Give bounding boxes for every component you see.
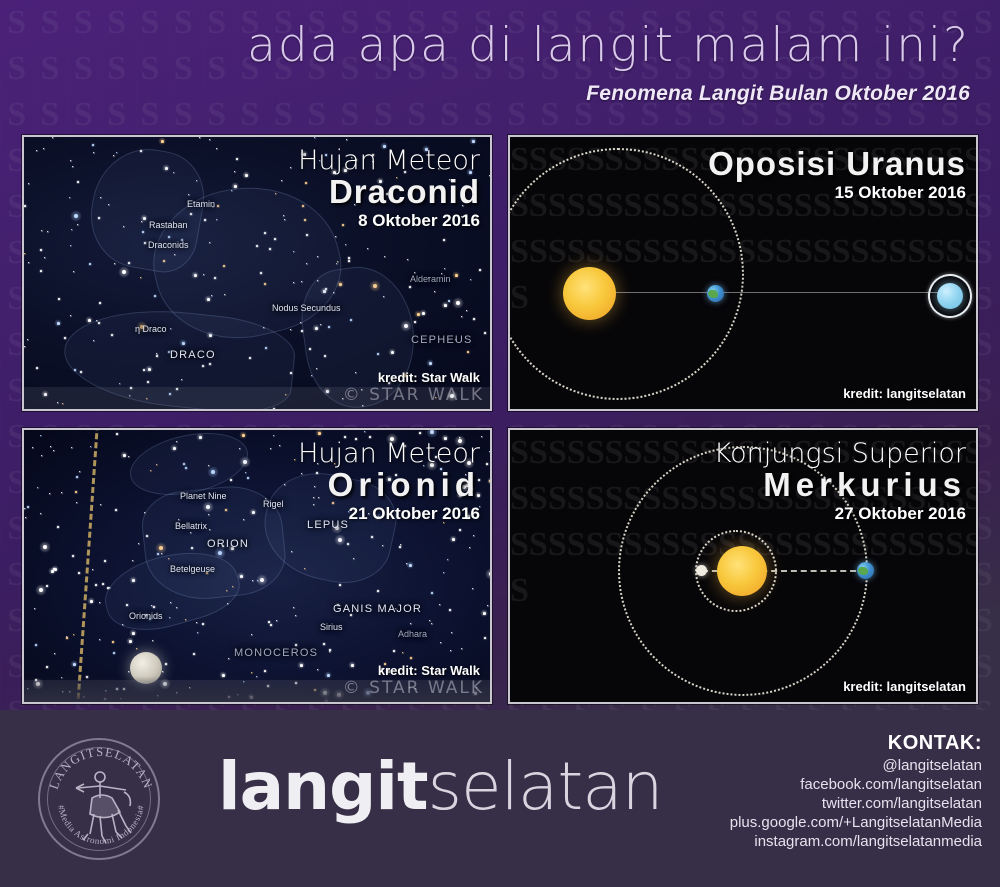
- star: [461, 648, 462, 649]
- star: [54, 568, 57, 571]
- draconid-starwalk-watermark: © STAR WALK: [343, 385, 484, 405]
- star: [93, 152, 94, 153]
- star: [154, 295, 156, 297]
- draconid-credit: kredit: Star Walk: [378, 370, 480, 385]
- star: [72, 166, 73, 167]
- sky-label: ORION: [207, 538, 249, 550]
- star: [469, 547, 470, 548]
- star: [35, 644, 37, 646]
- draconid-name: Draconid: [298, 175, 480, 210]
- uranus-date: 15 Oktober 2016: [708, 183, 966, 203]
- star: [27, 339, 28, 340]
- star: [473, 318, 475, 320]
- star: [41, 230, 42, 231]
- uranus-credit: kredit: langitselatan: [843, 386, 966, 401]
- orionid-starwalk-watermark: © STAR WALK: [343, 678, 484, 698]
- star: [489, 175, 490, 176]
- star: [290, 167, 291, 168]
- star: [448, 300, 450, 302]
- sun-body: [563, 267, 616, 320]
- star: [90, 600, 93, 603]
- star: [90, 446, 91, 447]
- star: [466, 310, 467, 311]
- earth-body-merkurius: [857, 562, 874, 579]
- star: [484, 637, 486, 639]
- star: [76, 502, 77, 503]
- star: [44, 257, 45, 258]
- star: [393, 650, 395, 652]
- sky-label: CEPHEUS: [411, 334, 473, 346]
- star: [92, 569, 93, 570]
- sky-label: MONOCEROS: [234, 647, 318, 659]
- star: [456, 301, 460, 305]
- star: [196, 622, 197, 623]
- star: [161, 140, 164, 143]
- star: [228, 658, 229, 659]
- star: [49, 493, 50, 494]
- star: [459, 529, 461, 531]
- contact-facebook[interactable]: facebook.com/langitselatan: [730, 776, 982, 793]
- star: [75, 491, 77, 493]
- star: [152, 640, 153, 641]
- star: [77, 224, 78, 225]
- seal-artwork: LANGITSELATAN #Media Astronomi Indonesia…: [40, 740, 162, 862]
- sky-label: Adhara: [398, 629, 427, 639]
- panel-uranus[interactable]: SSSSSSSSSSSSSSSSSSSSSSSSSSSSSSSSSSSSSSSS…: [508, 135, 978, 411]
- sky-label: Orionids: [129, 611, 163, 621]
- star: [37, 487, 38, 488]
- star: [483, 612, 486, 615]
- star: [430, 430, 434, 434]
- star: [472, 588, 473, 589]
- uranus-name: Uranus: [846, 145, 966, 182]
- star: [444, 268, 445, 269]
- star: [73, 271, 74, 272]
- star: [113, 652, 115, 654]
- star: [72, 555, 74, 557]
- star: [64, 337, 66, 339]
- star: [162, 671, 163, 672]
- star: [114, 263, 115, 264]
- star: [52, 137, 53, 138]
- sky-label: Sirius: [320, 622, 343, 632]
- orionid-name: Orionid: [298, 468, 480, 503]
- star: [36, 367, 38, 369]
- langitselatan-seal-logo: LANGITSELATAN #Media Astronomi Indonesia…: [38, 738, 160, 860]
- sky-label: Betelgeuse: [170, 564, 215, 574]
- star: [27, 506, 29, 508]
- star: [409, 564, 412, 567]
- star: [431, 592, 433, 594]
- star: [486, 463, 488, 465]
- star: [417, 313, 420, 316]
- sky-label: Bellatrix: [175, 521, 207, 531]
- star: [351, 664, 354, 667]
- star: [99, 602, 100, 603]
- star: [364, 431, 365, 432]
- star: [279, 445, 280, 446]
- star: [440, 642, 441, 643]
- star: [470, 279, 471, 280]
- merkurius-name: Merkurius: [714, 468, 966, 503]
- star: [32, 447, 33, 448]
- star: [54, 653, 55, 654]
- star: [414, 321, 416, 323]
- star: [95, 584, 97, 586]
- sky-label: Rastaban: [149, 220, 188, 230]
- star: [41, 455, 42, 456]
- star: [295, 644, 297, 646]
- star: [99, 302, 101, 304]
- star: [273, 435, 274, 436]
- page-subtitle: Fenomena Langit Bulan Oktober 2016: [586, 82, 970, 106]
- star: [74, 214, 78, 218]
- star: [323, 643, 325, 645]
- panel-draconid[interactable]: EtaminRastabanDraconidsNodus Secundusη D…: [22, 135, 492, 411]
- contact-instagram[interactable]: instagram.com/langitselatanmedia: [730, 833, 982, 850]
- draconid-date: 8 Oktober 2016: [298, 211, 480, 231]
- star: [76, 476, 78, 478]
- star: [24, 205, 26, 207]
- merkurius-credit: kredit: langitselatan: [843, 679, 966, 694]
- mercury-body: [696, 565, 707, 576]
- star: [281, 180, 282, 181]
- star: [40, 270, 42, 272]
- star: [461, 316, 462, 317]
- star: [89, 263, 91, 265]
- star: [43, 148, 44, 149]
- star: [78, 572, 80, 574]
- star: [132, 632, 135, 635]
- star: [77, 181, 79, 183]
- star: [28, 262, 29, 263]
- star: [46, 666, 48, 668]
- star: [73, 634, 74, 635]
- star: [443, 572, 444, 573]
- star: [489, 451, 490, 452]
- star: [92, 144, 94, 146]
- star: [443, 239, 445, 241]
- star: [197, 632, 198, 633]
- star: [245, 174, 248, 177]
- star: [367, 248, 368, 249]
- star: [216, 148, 217, 149]
- panel-merkurius[interactable]: SSSSSSSSSSSSSSSSSSSSSSSSSSSSSSSSSSSSSSSS…: [508, 428, 978, 704]
- star: [384, 256, 385, 257]
- star: [66, 637, 68, 639]
- star: [484, 332, 486, 334]
- star: [234, 171, 235, 172]
- star: [329, 649, 331, 651]
- star: [251, 672, 252, 673]
- star: [116, 152, 117, 153]
- star: [100, 504, 101, 505]
- star: [230, 479, 232, 481]
- star: [104, 560, 106, 562]
- sky-label: Draconids: [148, 240, 189, 250]
- star: [247, 477, 249, 479]
- star: [268, 621, 270, 623]
- star: [348, 260, 350, 262]
- contact-twitter[interactable]: twitter.com/langitselatan: [730, 795, 982, 812]
- sky-label: Nodus Secundus: [272, 303, 341, 313]
- star: [434, 291, 435, 292]
- wordmark-bold: langit: [218, 748, 428, 825]
- page-title: ada apa di langit malam ini?: [247, 18, 970, 73]
- star: [211, 702, 212, 703]
- opposition-sightline: [582, 292, 952, 293]
- star: [264, 670, 266, 672]
- star: [467, 351, 469, 353]
- star: [73, 663, 76, 666]
- star: [47, 231, 48, 232]
- star: [24, 253, 25, 254]
- sky-label: GANIS MAJOR: [333, 603, 422, 615]
- uranus-title: Oposisi Uranus: [708, 147, 966, 182]
- star: [450, 650, 451, 651]
- orionid-title-block: Hujan Meteor Orionid 21 Oktober 2016: [298, 440, 480, 524]
- star: [270, 624, 272, 626]
- star: [345, 244, 346, 245]
- star: [115, 509, 117, 511]
- star: [431, 623, 432, 624]
- star: [40, 435, 41, 436]
- star: [300, 664, 303, 667]
- orionid-kind: Hujan Meteor: [298, 440, 480, 468]
- sky-label: Alderamin: [410, 274, 451, 284]
- sky-label: Rigel: [263, 499, 284, 509]
- sky-label: η Draco: [135, 324, 167, 334]
- star: [24, 346, 25, 347]
- star: [71, 229, 72, 230]
- uranus-body: [937, 283, 963, 309]
- sun-body-merkurius: [717, 546, 767, 596]
- star: [422, 312, 425, 315]
- star: [69, 197, 70, 198]
- merkurius-date: 27 Oktober 2016: [714, 504, 966, 524]
- star: [34, 608, 35, 609]
- star: [199, 137, 200, 138]
- earth-body: [707, 285, 724, 302]
- star: [409, 286, 411, 288]
- star: [295, 615, 296, 616]
- star: [40, 249, 42, 251]
- star: [490, 153, 491, 154]
- star: [61, 492, 62, 493]
- uranus-title-block: Oposisi Uranus 15 Oktober 2016: [708, 147, 966, 203]
- langitselatan-wordmark: langitselatan: [218, 754, 663, 820]
- contact-handle[interactable]: @langitselatan: [730, 757, 982, 774]
- star: [406, 563, 407, 564]
- star: [112, 641, 114, 643]
- sky-label: Etamin: [187, 199, 215, 209]
- draconid-title-block: Hujan Meteor Draconid 8 Oktober 2016: [298, 147, 480, 231]
- star: [429, 362, 432, 365]
- star: [128, 671, 129, 672]
- contact-block: KONTAK: @langitselatan facebook.com/lang…: [730, 732, 982, 850]
- star: [487, 605, 488, 606]
- star: [451, 632, 452, 633]
- merkurius-title-block: Konjungsi Superior Merkurius 27 Oktober …: [714, 440, 966, 524]
- orionid-date: 21 Oktober 2016: [298, 504, 480, 524]
- star: [99, 639, 100, 640]
- star: [242, 434, 245, 437]
- star: [490, 480, 492, 483]
- star: [202, 623, 204, 625]
- poster-header: ada apa di langit malam ini? Fenomena La…: [0, 0, 1000, 126]
- star: [102, 583, 104, 585]
- star: [70, 160, 71, 161]
- star: [377, 590, 379, 592]
- star: [314, 137, 315, 138]
- star: [136, 648, 137, 649]
- star: [79, 471, 80, 472]
- star: [209, 139, 210, 140]
- star: [39, 588, 43, 592]
- star: [70, 245, 71, 246]
- star: [57, 526, 59, 528]
- star: [318, 432, 321, 435]
- star: [88, 319, 91, 322]
- star: [58, 298, 60, 300]
- star: [472, 140, 475, 143]
- star: [439, 604, 440, 605]
- star: [293, 607, 294, 608]
- star: [57, 322, 60, 325]
- star: [452, 538, 455, 541]
- star: [24, 508, 25, 509]
- star: [193, 653, 195, 655]
- star: [122, 270, 126, 274]
- star: [113, 155, 114, 156]
- panel-orionid[interactable]: Planet NineRigelBellatrixLEPUSORIONBetel…: [22, 428, 492, 704]
- star: [317, 669, 318, 670]
- star: [294, 459, 295, 460]
- star: [479, 269, 481, 271]
- star: [123, 454, 126, 457]
- star: [25, 517, 26, 518]
- star: [71, 447, 72, 448]
- star: [251, 634, 252, 635]
- star: [50, 446, 51, 447]
- star: [138, 543, 139, 544]
- star: [455, 274, 458, 277]
- star: [399, 546, 401, 548]
- star: [43, 545, 47, 549]
- star: [290, 329, 291, 330]
- orionid-credit: kredit: Star Walk: [378, 663, 480, 678]
- star: [402, 652, 403, 653]
- star: [346, 139, 347, 140]
- poster-root: SSSSSSSSSSSSSSSSSSSSSSSSSSSSSSSSSSSSSSSS…: [0, 0, 1000, 887]
- star: [140, 277, 141, 278]
- star: [447, 559, 448, 560]
- sky-label: Planet Nine: [180, 491, 227, 501]
- star: [132, 560, 133, 561]
- star: [40, 513, 41, 514]
- star: [473, 535, 474, 536]
- star: [270, 448, 271, 449]
- star: [236, 158, 238, 160]
- star: [489, 572, 492, 576]
- star: [407, 259, 408, 260]
- sky-label: DRACO: [170, 349, 216, 361]
- star: [28, 183, 29, 184]
- wordmark-light: selatan: [428, 748, 663, 825]
- star: [339, 584, 341, 586]
- star: [410, 623, 411, 624]
- star: [276, 620, 277, 621]
- star: [449, 609, 451, 611]
- poster-footer: LANGITSELATAN #Media Astronomi Indonesia…: [0, 710, 1000, 887]
- star: [245, 472, 246, 473]
- star: [36, 150, 37, 151]
- star: [52, 409, 53, 410]
- uranus-kind: Oposisi: [708, 145, 836, 182]
- merkurius-kind: Konjungsi Superior: [714, 440, 966, 468]
- star: [489, 480, 491, 482]
- star: [419, 432, 421, 434]
- contact-googleplus[interactable]: plus.google.com/+LangitselatanMedia: [730, 814, 982, 831]
- star: [70, 315, 71, 316]
- draconid-kind: Hujan Meteor: [298, 147, 480, 175]
- star: [129, 640, 132, 643]
- star: [481, 436, 482, 437]
- star: [165, 663, 167, 665]
- star: [410, 657, 412, 659]
- star: [414, 272, 415, 273]
- contact-heading: KONTAK:: [730, 732, 982, 755]
- star: [116, 433, 118, 435]
- star: [429, 620, 430, 621]
- star: [444, 304, 447, 307]
- star: [234, 185, 237, 188]
- svg-text:LANGITSELATAN: LANGITSELATAN: [47, 745, 156, 791]
- star: [53, 450, 54, 451]
